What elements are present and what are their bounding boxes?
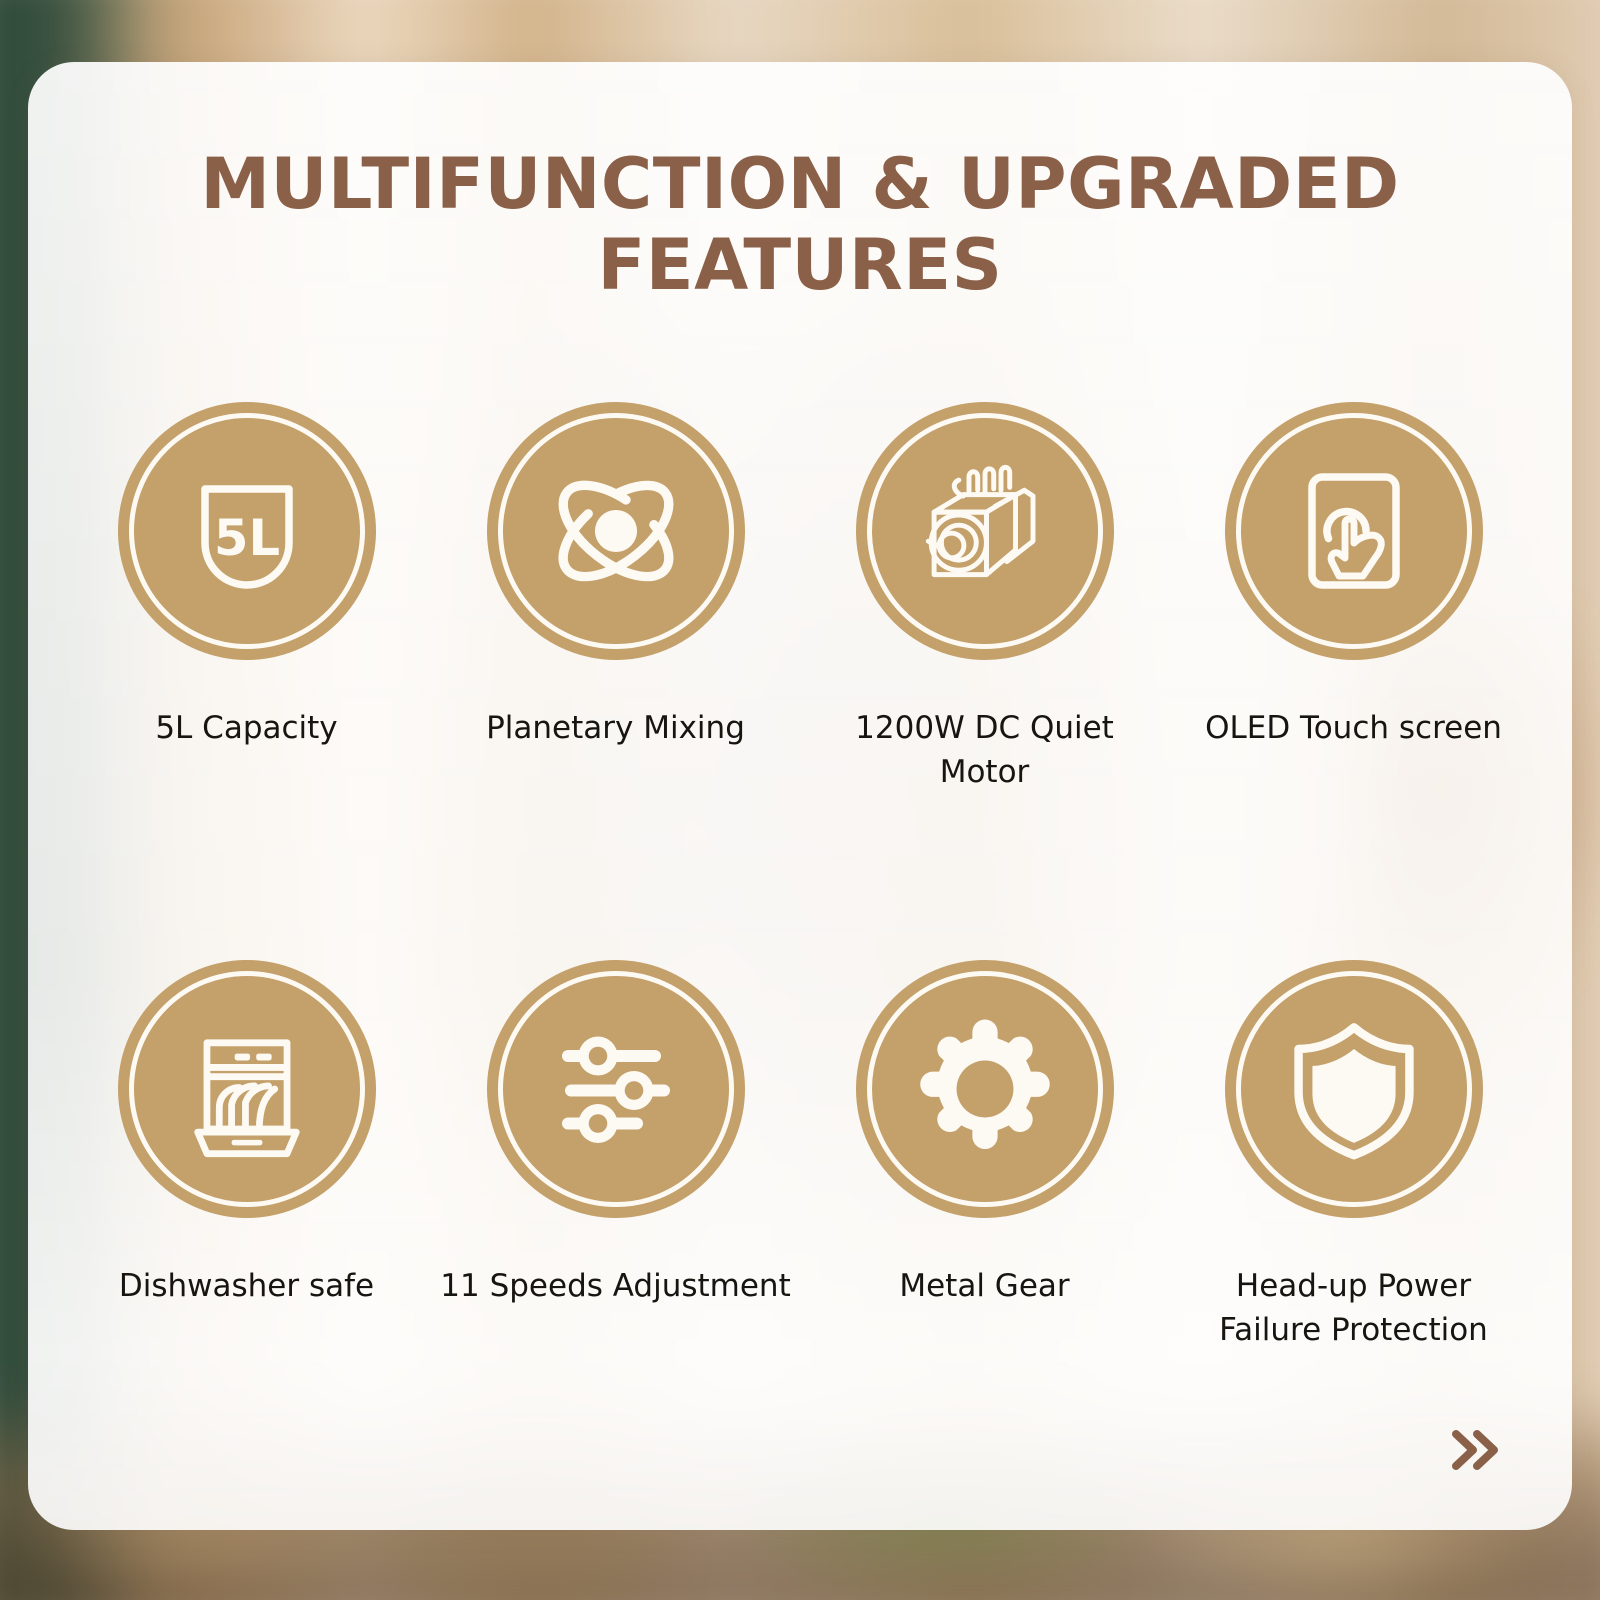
feature-label-touchscreen: OLED Touch screen — [1169, 706, 1538, 750]
feature-label-capacity: 5L Capacity — [62, 706, 431, 750]
feature-label-speeds: 11 Speeds Adjustment — [431, 1264, 800, 1308]
sliders-icon — [541, 1014, 691, 1164]
feature-item-speeds[interactable]: 11 Speeds Adjustment — [431, 960, 800, 1352]
badge-motor — [856, 402, 1114, 660]
feature-label-metal-gear: Metal Gear — [800, 1264, 1169, 1308]
touchscreen-icon — [1279, 456, 1429, 606]
feature-item-dishwasher[interactable]: Dishwasher safe — [62, 960, 431, 1352]
feature-item-motor[interactable]: 1200W DC Quiet Motor — [800, 402, 1169, 794]
badge-dishwasher — [118, 960, 376, 1218]
next-page-button[interactable] — [1440, 1418, 1510, 1482]
gear-icon — [906, 1010, 1064, 1168]
atom-orbit-icon — [538, 453, 694, 609]
feature-label-dishwasher: Dishwasher safe — [62, 1264, 431, 1308]
feature-item-protection[interactable]: Head-up Power Failure Protection — [1169, 960, 1538, 1352]
feature-label-motor: 1200W DC Quiet Motor — [800, 706, 1169, 794]
feature-item-planetary-mixing[interactable]: Planetary Mixing — [431, 402, 800, 794]
badge-protection — [1225, 960, 1483, 1218]
double-chevron-right-icon — [1444, 1422, 1506, 1478]
feature-item-touchscreen[interactable]: OLED Touch screen — [1169, 402, 1538, 794]
bowl-capacity-label: 5L — [214, 509, 280, 567]
feature-grid: 5L 5L Capacity Planetary Mixing — [28, 402, 1572, 1352]
badge-planetary-mixing — [487, 402, 745, 660]
shield-icon — [1277, 1012, 1431, 1166]
dishwasher-icon — [170, 1012, 324, 1166]
badge-touchscreen — [1225, 402, 1483, 660]
badge-speeds — [487, 960, 745, 1218]
feature-card: MULTIFUNCTION & UPGRADED FEATURES 5L 5L … — [28, 62, 1572, 1530]
feature-item-metal-gear[interactable]: Metal Gear — [800, 960, 1169, 1352]
feature-label-planetary-mixing: Planetary Mixing — [431, 706, 800, 750]
feature-item-capacity[interactable]: 5L 5L Capacity — [62, 402, 431, 794]
page-title: MULTIFUNCTION & UPGRADED FEATURES — [28, 144, 1572, 306]
badge-metal-gear — [856, 960, 1114, 1218]
bowl-capacity-icon: 5L — [172, 456, 322, 606]
feature-label-protection: Head-up Power Failure Protection — [1169, 1264, 1538, 1352]
electric-motor-icon — [905, 451, 1065, 611]
badge-capacity: 5L — [118, 402, 376, 660]
page-root: MULTIFUNCTION & UPGRADED FEATURES 5L 5L … — [0, 0, 1600, 1600]
